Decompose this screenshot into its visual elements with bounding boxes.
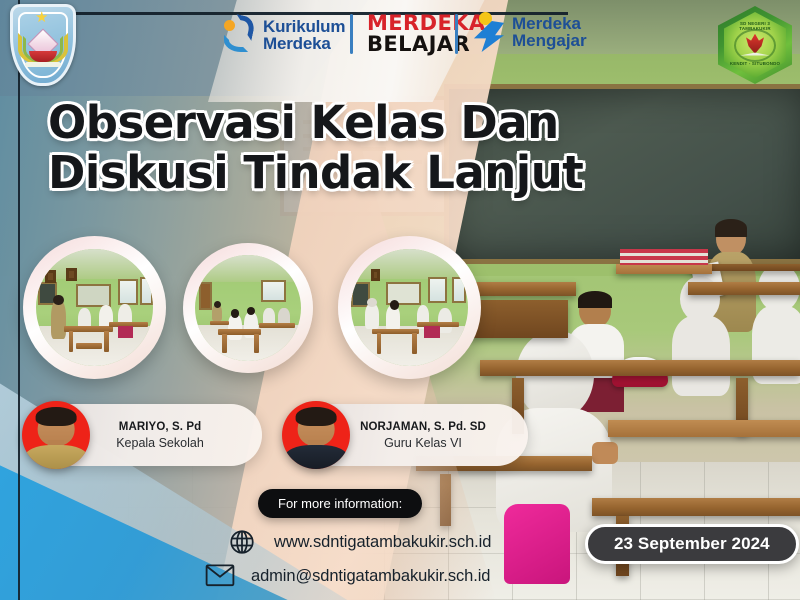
- book-stack-shelf: [616, 264, 712, 274]
- school-emblem-top-text: SD NEGERI 3 TAMBAKUKIR: [724, 21, 786, 31]
- bench-1: [688, 282, 800, 295]
- kabupaten-emblem-icon: [10, 4, 76, 86]
- kurikulum-merdeka-logo: Kurikulum Merdeka: [222, 10, 345, 60]
- merdeka-mengajar-logo: Merdeka Mengajar: [472, 12, 587, 52]
- person-name: NORJAMAN, S. Pd. SD: [332, 421, 514, 433]
- merdeka-mengajar-mark-icon: [472, 12, 506, 52]
- website-url[interactable]: www.sdntigatambakukir.sch.id: [274, 533, 491, 552]
- date-badge: 23 September 2024: [585, 524, 799, 564]
- email-contact-row[interactable]: admin@sdntigatambakukir.sch.id: [205, 562, 490, 590]
- title-line-1: Observasi Kelas Dan: [48, 98, 588, 148]
- mengajar-line1: Merdeka: [512, 15, 587, 32]
- merdeka-mengajar-text: Merdeka Mengajar: [512, 15, 587, 50]
- kurikulum-line2: Merdeka: [263, 35, 345, 52]
- person-name: MARIYO, S. Pd: [72, 421, 248, 433]
- kurikulum-merdeka-text: Kurikulum Merdeka: [263, 18, 345, 53]
- merdeka-belajar-line1: MERDEKA: [367, 13, 486, 34]
- more-information-label: For more information:: [258, 489, 422, 518]
- classroom-photo-3[interactable]: [338, 236, 481, 379]
- desk-1: [480, 360, 800, 376]
- desk-3: [592, 498, 800, 516]
- logo-divider-1: [350, 14, 353, 54]
- merdeka-belajar-line2: BELAJAR: [367, 34, 486, 55]
- person-role: Kepala Sekolah: [72, 436, 248, 450]
- vertical-rule: [18, 0, 20, 600]
- school-emblem-bottom-text: KENDIT - SITUBONDO: [724, 61, 786, 66]
- website-contact-row[interactable]: www.sdntigatambakukir.sch.id: [228, 528, 491, 556]
- mengajar-line2: Mengajar: [512, 32, 587, 49]
- avatar: [282, 401, 350, 469]
- avatar: [22, 401, 90, 469]
- logo-divider-2: [455, 14, 458, 54]
- pink-bag: [504, 504, 570, 584]
- person-card-teacher[interactable]: NORJAMAN, S. Pd. SD Guru Kelas VI: [286, 404, 528, 466]
- title-line-2: Diskusi Tindak Lanjut: [48, 148, 588, 198]
- poster-canvas: Kurikulum Merdeka MERDEKA BELAJAR Merdek…: [0, 0, 800, 600]
- kurikulum-merdeka-mark-icon: [222, 16, 256, 54]
- merdeka-belajar-logo: MERDEKA BELAJAR: [367, 13, 486, 54]
- classroom-photo-2[interactable]: [183, 243, 313, 373]
- globe-icon: [228, 528, 256, 556]
- classroom-photo-1[interactable]: [23, 236, 166, 379]
- desk-2: [608, 420, 800, 437]
- page-title: Observasi Kelas Dan Diskusi Tindak Lanju…: [48, 98, 588, 199]
- book-stack: [620, 249, 708, 265]
- school-hexagon-emblem-icon: SD NEGERI 3 TAMBAKUKIR KENDIT - SITUBOND…: [718, 6, 792, 84]
- kurikulum-line1: Kurikulum: [263, 18, 345, 35]
- email-address[interactable]: admin@sdntigatambakukir.sch.id: [251, 567, 490, 586]
- person-role: Guru Kelas VI: [332, 436, 514, 450]
- person-card-principal[interactable]: MARIYO, S. Pd Kepala Sekolah: [26, 404, 262, 466]
- envelope-icon: [205, 562, 233, 590]
